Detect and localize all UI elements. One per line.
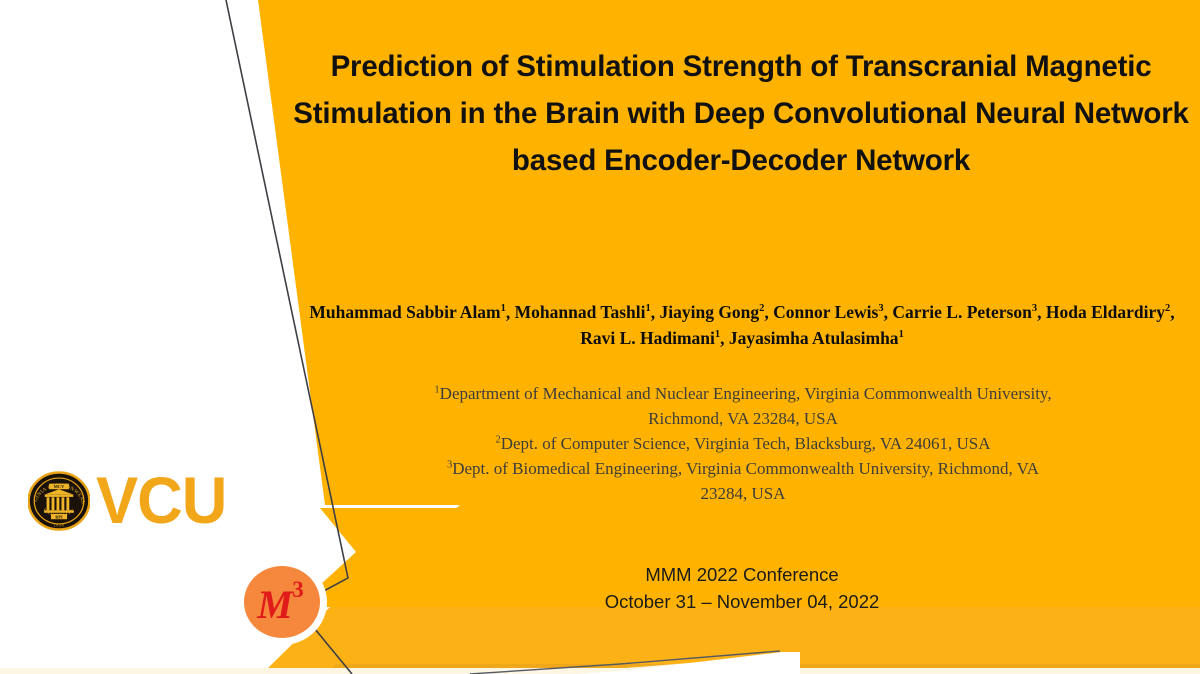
affiliation-2: 2Dept. of Computer Science, Virginia Tec…	[298, 431, 1188, 456]
conference-info: MMM 2022 Conference October 31 – Novembe…	[292, 562, 1192, 615]
affiliation-list: 1Department of Mechanical and Nuclear En…	[298, 381, 1188, 506]
vcu-wordmark: VCU	[96, 466, 296, 532]
page-title: Prediction of Stimulation Strength of Tr…	[286, 43, 1196, 184]
author-list: Muhammad Sabbir Alam1, Mohannad Tashli1,…	[292, 299, 1192, 351]
seal-year-label: 1838	[54, 522, 64, 527]
affiliation-1-cont: Richmond, VA 23284, USA	[298, 406, 1188, 431]
affiliation-3: 3Dept. of Biomedical Engineering, Virgin…	[298, 456, 1188, 481]
vcu-wordmark-text: VCU	[96, 466, 226, 532]
affiliation-1: 1Department of Mechanical and Nuclear En…	[298, 381, 1188, 406]
author-line-1: Muhammad Sabbir Alam1, Mohannad Tashli1,…	[309, 302, 962, 322]
m3-group-logo-icon: M 3	[232, 552, 332, 652]
vcu-seal-icon: VIRGINIA COMMONWEALTH UNIVERSITY MCV RPI…	[28, 470, 90, 532]
vcu-logo: VIRGINIA COMMONWEALTH UNIVERSITY MCV RPI…	[28, 468, 290, 534]
conference-dates: October 31 – November 04, 2022	[292, 589, 1192, 616]
seal-mcv-label: MCV	[54, 484, 65, 489]
m3-exponent: 3	[292, 577, 304, 602]
conference-name: MMM 2022 Conference	[292, 562, 1192, 589]
m3-letter: M	[256, 582, 294, 627]
seal-rpi-label: RPI	[55, 514, 63, 519]
slide-text-content: Prediction of Stimulation Strength of Tr…	[282, 0, 1200, 674]
affiliation-3-cont: 23284, USA	[298, 481, 1188, 506]
title-slide: Prediction of Stimulation Strength of Tr…	[0, 0, 1200, 674]
